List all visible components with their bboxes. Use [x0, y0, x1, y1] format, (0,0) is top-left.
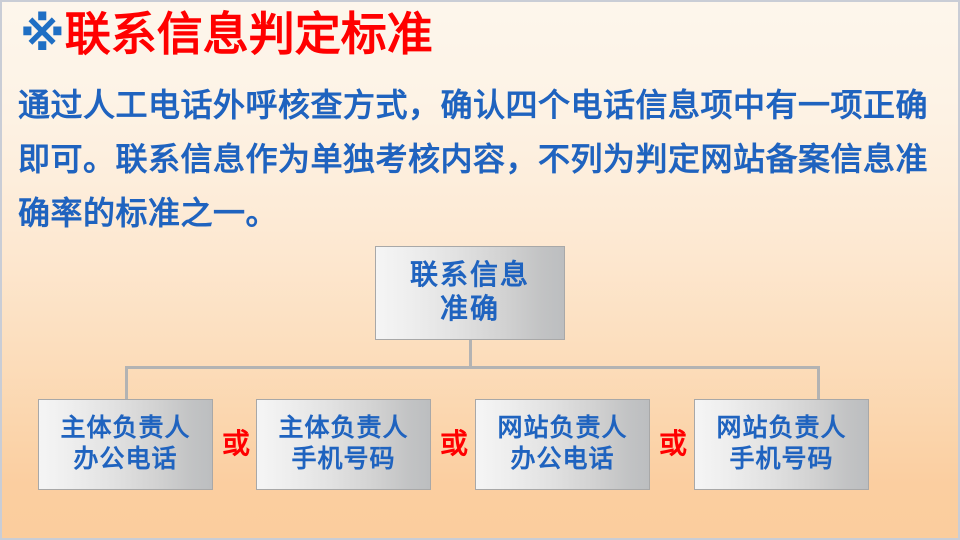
separator-or-2: 或: [432, 422, 476, 468]
node-leaf-3-line2: 手机号码: [729, 445, 833, 476]
node-leaf-website-mobile-number[interactable]: 网站负责人 手机号码: [694, 399, 869, 490]
reference-mark-icon: ※: [20, 7, 65, 61]
page-title: ※联系信息判定标准: [20, 4, 940, 66]
connector-drop-left: [125, 366, 128, 400]
node-root-contact-info-accurate[interactable]: 联系信息 准确: [375, 246, 565, 340]
slide-canvas: ※联系信息判定标准 通过人工电话外呼核查方式，确认四个电话信息项中有一项正确即可…: [0, 0, 960, 540]
node-leaf-website-office-phone[interactable]: 网站负责人 办公电话: [475, 399, 650, 490]
node-leaf-0-line2: 办公电话: [73, 445, 177, 476]
node-root-line1: 联系信息: [410, 259, 530, 293]
node-leaf-entity-mobile-number[interactable]: 主体负责人 手机号码: [256, 399, 431, 490]
node-leaf-0-line1: 主体负责人: [60, 414, 190, 445]
node-leaf-1-line2: 手机号码: [291, 445, 395, 476]
node-leaf-2-line2: 办公电话: [510, 445, 614, 476]
connector-root-stem: [469, 340, 472, 367]
separator-or-1: 或: [214, 422, 258, 468]
connector-horizontal-bar: [125, 366, 820, 369]
node-root-line2: 准确: [440, 293, 500, 327]
node-leaf-3-line1: 网站负责人: [716, 414, 846, 445]
page-title-text: 联系信息判定标准: [65, 7, 433, 61]
connector-drop-right: [817, 366, 820, 400]
body-paragraph: 通过人工电话外呼核查方式，确认四个电话信息项中有一项正确即可。联系信息作为单独考…: [18, 78, 928, 240]
node-leaf-2-line1: 网站负责人: [497, 414, 627, 445]
node-leaf-entity-office-phone[interactable]: 主体负责人 办公电话: [38, 399, 213, 490]
separator-or-3: 或: [651, 422, 695, 468]
node-leaf-1-line1: 主体负责人: [278, 414, 408, 445]
